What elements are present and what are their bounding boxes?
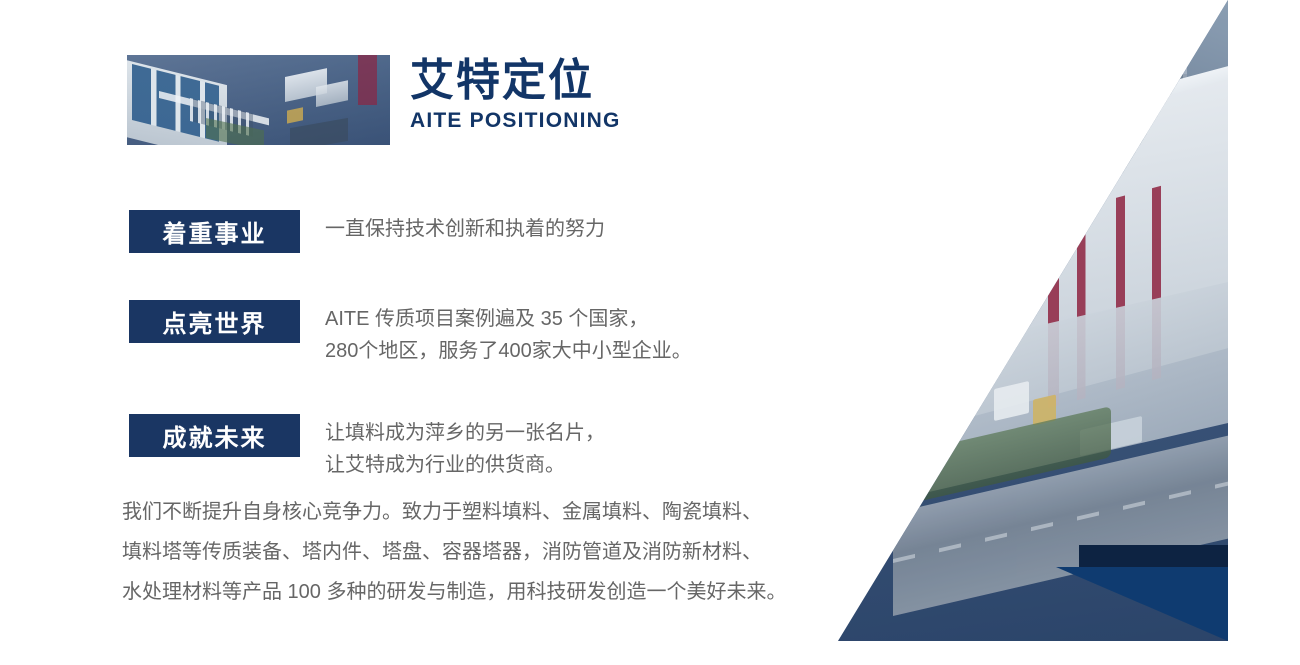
feature-row: 成就未来 让填料成为萍乡的另一张名片， 让艾特成为行业的供货商。	[129, 414, 909, 481]
photo-logo-mark-icon	[1056, 202, 1069, 218]
brand-title-block: 艾特定位 AITE POSITIONING	[410, 55, 621, 133]
page-title: 艾特定位	[410, 57, 621, 105]
description-line: 填料塔等传质装备、塔内件、塔盘、容器塔器，消防管道及消防新材料、	[122, 532, 1022, 572]
company-profile-page: AITE	[0, 0, 1300, 665]
logo-shadow-block	[290, 118, 348, 145]
feature-text-2: AITE 传质项目案例遍及 35 个国家， 280个地区，服务了400家大中小型…	[325, 300, 692, 367]
feature-row: 点亮世界 AITE 传质项目案例遍及 35 个国家， 280个地区，服务了400…	[129, 300, 909, 367]
decorative-band-dark	[1079, 545, 1228, 567]
feature-badge-3: 成就未来	[129, 414, 300, 457]
feature-line: 让填料成为萍乡的另一张名片，	[325, 417, 605, 449]
photo-sign-text: AITE	[1073, 196, 1097, 212]
brand-header: 艾特定位 AITE POSITIONING	[127, 55, 621, 145]
feature-line: 一直保持技术创新和执着的努力	[325, 213, 605, 245]
feature-line: AITE 传质项目案例遍及 35 个国家，	[325, 303, 692, 335]
page-subtitle: AITE POSITIONING	[410, 109, 621, 133]
logo-thumbnail-image	[127, 55, 390, 145]
feature-list: 着重事业 一直保持技术创新和执着的努力 点亮世界 AITE 传质项目案例遍及 3…	[129, 210, 909, 481]
feature-line: 280个地区，服务了400家大中小型企业。	[325, 335, 692, 367]
feature-line: 让艾特成为行业的供货商。	[325, 449, 605, 481]
feature-row: 着重事业 一直保持技术创新和执着的努力	[129, 210, 909, 253]
feature-text-3: 让填料成为萍乡的另一张名片， 让艾特成为行业的供货商。	[325, 414, 605, 481]
logo-red-stripe	[358, 55, 376, 105]
feature-badge-1: 着重事业	[129, 210, 300, 253]
company-description: 我们不断提升自身核心竞争力。致力于塑料填料、金属填料、陶瓷填料、 填料塔等传质装…	[122, 492, 1022, 612]
description-line: 水处理材料等产品 100 多种的研发与制造，用科技研发创造一个美好未来。	[122, 572, 1022, 612]
logo-forklift	[287, 107, 303, 123]
feature-text-1: 一直保持技术创新和执着的努力	[325, 210, 605, 245]
feature-badge-2: 点亮世界	[129, 300, 300, 343]
logo-thumbnail-art	[127, 55, 390, 145]
photo-window-bands	[904, 204, 1005, 372]
description-line: 我们不断提升自身核心竞争力。致力于塑料填料、金属填料、陶瓷填料、	[122, 492, 1022, 532]
